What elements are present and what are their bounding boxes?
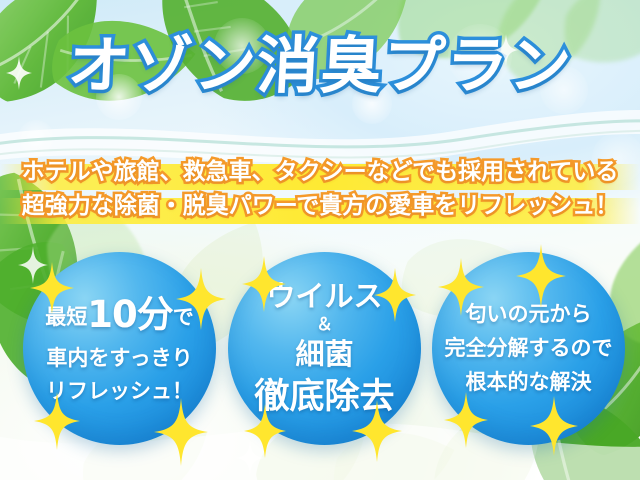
sparkle-star-icon (236, 440, 264, 476)
feature-bubble-speed[interactable]: 最短10分で 車内をすっきり リフレッシュ！ (23, 252, 216, 445)
bubble-speed-line-1: 最短10分で (45, 293, 194, 337)
feature-bubble-virus[interactable]: ウイルス ＆ 細菌 徹底除去 (228, 252, 421, 445)
ozone-deodorizing-plan-banner: オゾン消臭プラン ホテルや旅館、救急車、タクシーなどでも採用されている 超強力な… (0, 0, 640, 480)
bubble-speed-prefix: 最短 (45, 305, 87, 329)
subtitle-band: ホテルや旅館、救急車、タクシーなどでも採用されている 超強力な除菌・脱臭パワーで… (0, 152, 640, 228)
bubble-speed-duration: 10分 (87, 293, 173, 336)
bubble-virus-line-4: 徹底除去 (254, 376, 394, 418)
bokeh-circle-icon (18, 120, 54, 156)
subtitle-line-2: 超強力な除菌・脱臭パワーで貴方の愛車をリフレッシュ！ (0, 186, 640, 220)
bubble-odor-line-1: 匂いの元から (466, 302, 592, 327)
subtitle-line-1: ホテルや旅館、救急車、タクシーなどでも採用されている (0, 152, 640, 186)
bubble-virus-ampersand: ＆ (316, 315, 333, 335)
bubble-speed-suffix: で (173, 305, 194, 329)
bubble-odor-line-2: 完全分解するので (445, 336, 613, 361)
bubble-speed-line-2: 車内をすっきり (46, 346, 192, 371)
feature-bubble-odor[interactable]: 匂いの元から 完全分解するので 根本的な解決 (432, 252, 625, 445)
bubble-virus-line-3: 細菌 (295, 337, 353, 372)
bubble-odor-line-3: 根本的な解決 (466, 370, 592, 395)
sparkle-star-icon (18, 246, 48, 284)
bubble-virus-line-1: ウイルス (266, 279, 382, 314)
banner-title-container: オゾン消臭プラン (0, 34, 640, 97)
page-title: オゾン消臭プラン (66, 34, 573, 97)
bubble-speed-line-3: リフレッシュ！ (46, 379, 193, 404)
